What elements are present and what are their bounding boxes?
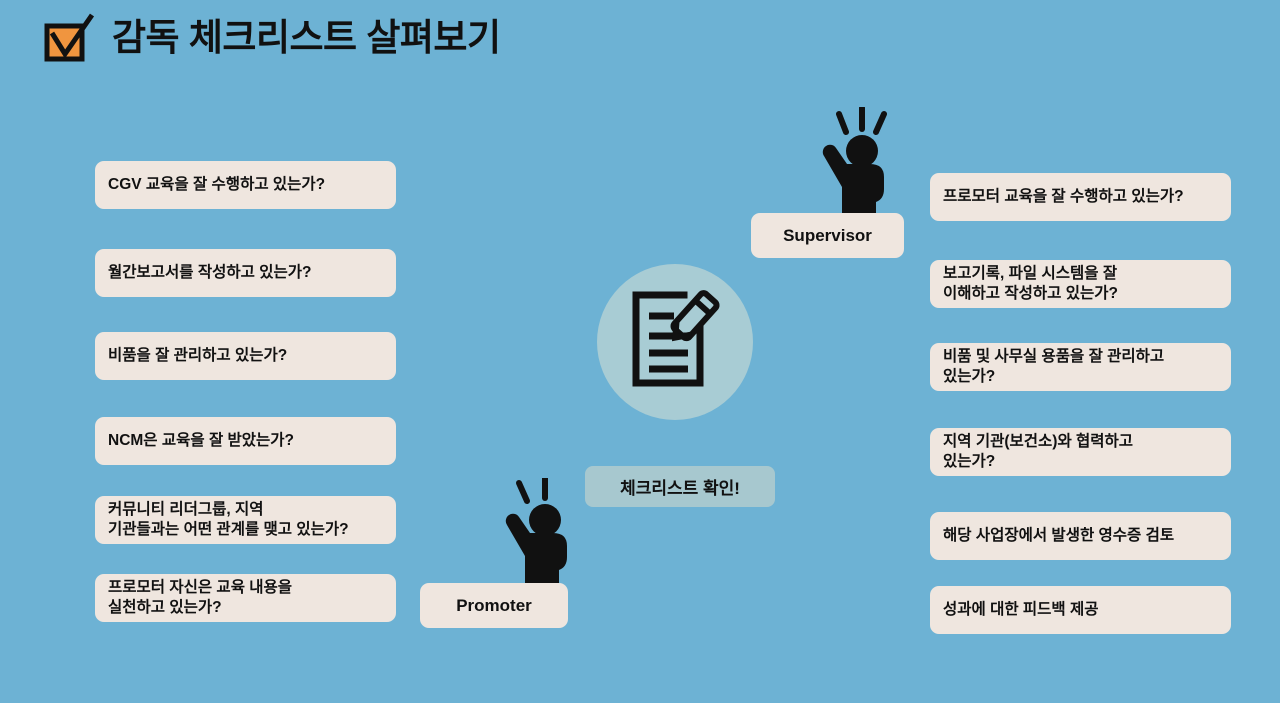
right-item-5[interactable]: 해당 사업장에서 발생한 영수증 검토: [930, 512, 1231, 560]
left-item-2[interactable]: 월간보고서를 작성하고 있는가?: [95, 249, 396, 297]
promoter-label: Promoter: [456, 596, 532, 616]
right-item-5-label: 해당 사업장에서 발생한 영수증 검토: [943, 526, 1174, 546]
left-item-1[interactable]: CGV 교육을 잘 수행하고 있는가?: [95, 161, 396, 209]
left-item-1-label: CGV 교육을 잘 수행하고 있는가?: [108, 175, 325, 195]
left-item-5[interactable]: 커뮤니티 리더그룹, 지역 기관들과는 어떤 관계를 맺고 있는가?: [95, 496, 396, 544]
page-title: 감독 체크리스트 살펴보기: [112, 18, 501, 59]
promoter-person-raising-hand-icon: [497, 478, 583, 588]
right-item-1-label: 프로모터 교육을 잘 수행하고 있는가?: [943, 187, 1184, 207]
left-item-6[interactable]: 프로모터 자신은 교육 내용을 실천하고 있는가?: [95, 574, 396, 622]
slide-canvas: 감독 체크리스트 살펴보기 CGV 교육을 잘 수행하고 있는가? 월간보고서를…: [0, 0, 1280, 703]
left-item-4-label: NCM은 교육을 잘 받았는가?: [108, 431, 294, 451]
right-item-4-label: 지역 기관(보건소)와 협력하고 있는가?: [943, 432, 1133, 473]
right-item-2-label: 보고기록, 파일 시스템을 잘 이해하고 작성하고 있는가?: [943, 264, 1118, 305]
page-header: 감독 체크리스트 살펴보기: [42, 10, 501, 66]
right-item-6-label: 성과에 대한 피드백 제공: [943, 600, 1099, 620]
right-item-2[interactable]: 보고기록, 파일 시스템을 잘 이해하고 작성하고 있는가?: [930, 260, 1231, 308]
left-item-6-label: 프로모터 자신은 교육 내용을 실천하고 있는가?: [108, 578, 292, 619]
center-caption-label: 체크리스트 확인!: [620, 474, 740, 499]
left-item-3[interactable]: 비품을 잘 관리하고 있는가?: [95, 332, 396, 380]
left-item-2-label: 월간보고서를 작성하고 있는가?: [108, 263, 311, 283]
supervisor-person-raising-hand-icon: [812, 107, 902, 222]
right-item-3-label: 비품 및 사무실 용품을 잘 관리하고 있는가?: [943, 347, 1164, 388]
supervisor-label: Supervisor: [783, 226, 872, 246]
center-caption-box[interactable]: 체크리스트 확인!: [585, 466, 775, 507]
left-item-4[interactable]: NCM은 교육을 잘 받았는가?: [95, 417, 396, 465]
left-item-3-label: 비품을 잘 관리하고 있는가?: [108, 346, 287, 366]
document-with-pencil-icon: [630, 289, 722, 389]
supervisor-label-box[interactable]: Supervisor: [751, 213, 904, 258]
checked-checkbox-icon: [42, 10, 98, 66]
right-item-4[interactable]: 지역 기관(보건소)와 협력하고 있는가?: [930, 428, 1231, 476]
promoter-label-box[interactable]: Promoter: [420, 583, 568, 628]
left-item-5-label: 커뮤니티 리더그룹, 지역 기관들과는 어떤 관계를 맺고 있는가?: [108, 500, 349, 541]
right-item-6[interactable]: 성과에 대한 피드백 제공: [930, 586, 1231, 634]
right-item-1[interactable]: 프로모터 교육을 잘 수행하고 있는가?: [930, 173, 1231, 221]
right-item-3[interactable]: 비품 및 사무실 용품을 잘 관리하고 있는가?: [930, 343, 1231, 391]
